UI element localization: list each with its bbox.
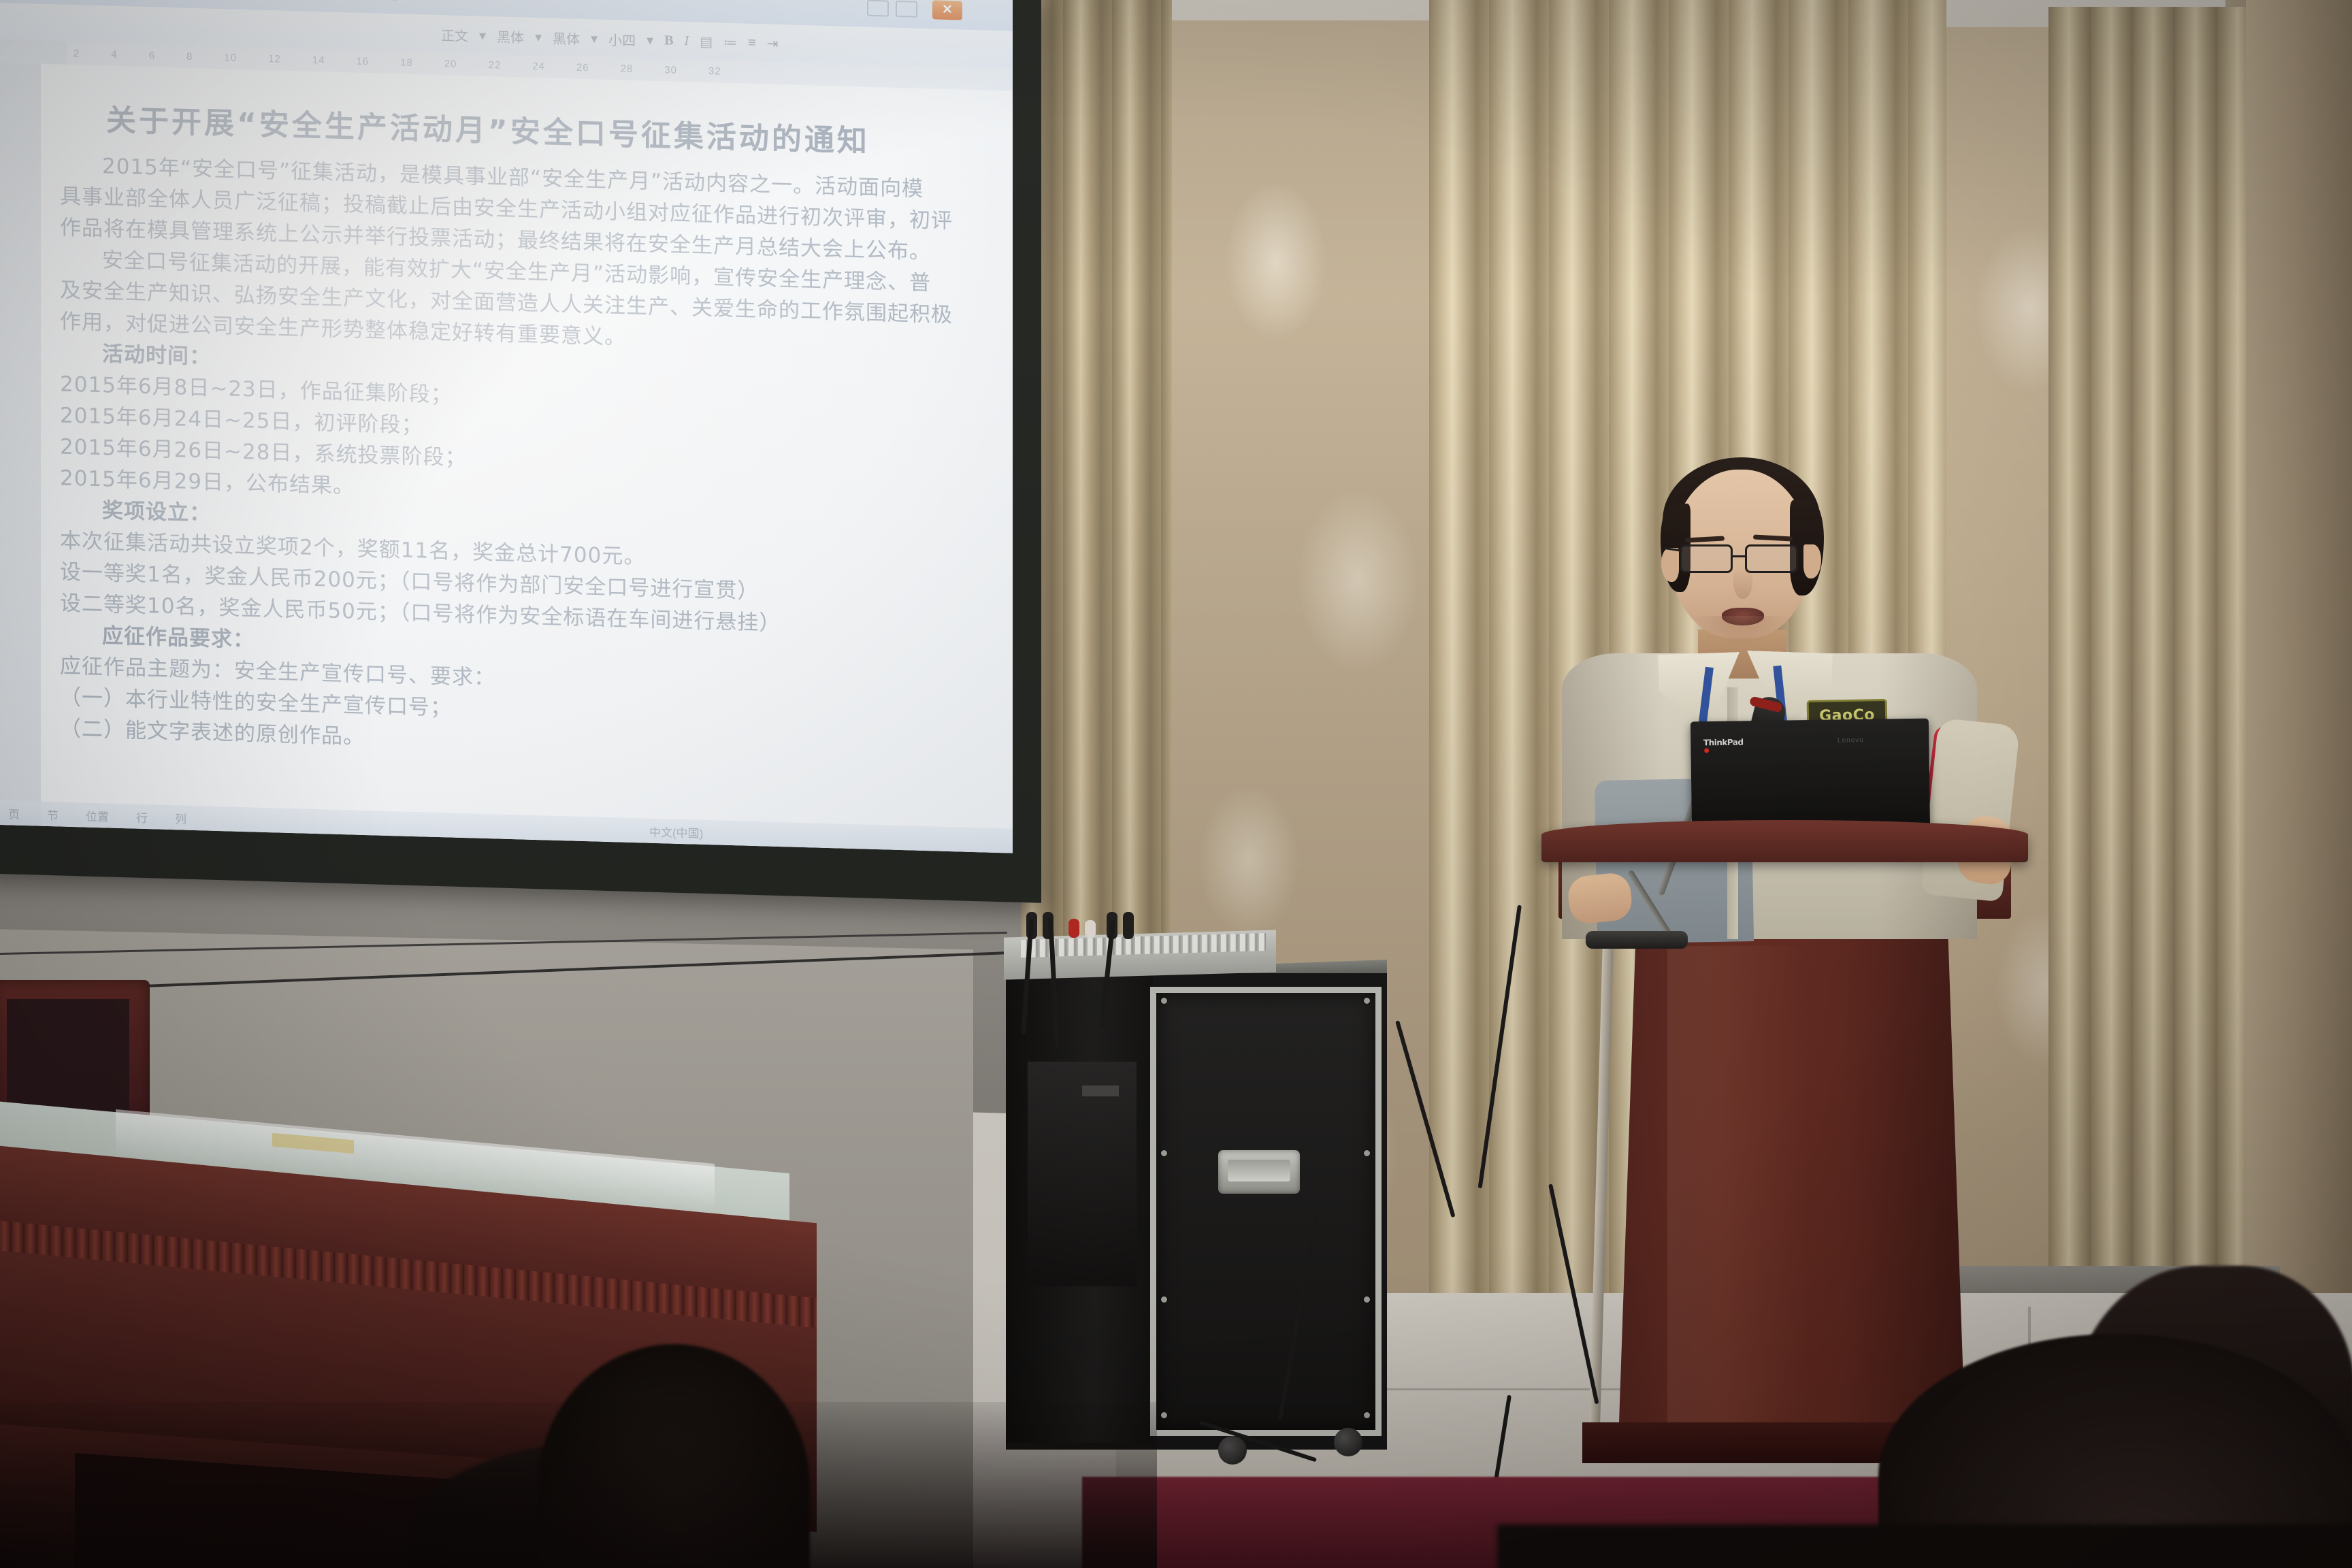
road-case-front-panel: [1150, 987, 1382, 1436]
case-screw: [1364, 1412, 1370, 1418]
cable-jack-white[interactable]: [1085, 920, 1096, 938]
chair-cushion: [7, 999, 129, 1116]
ruler-tick: 10: [224, 52, 237, 64]
align-center-icon[interactable]: ▤: [700, 33, 713, 50]
case-screw: [1364, 998, 1370, 1004]
ruler-tick: 28: [621, 63, 634, 75]
maximize-icon[interactable]: [896, 1, 917, 18]
case-screw: [1161, 1150, 1167, 1156]
eyeglass-lens-left: [1680, 544, 1733, 573]
ruler-tick: 14: [312, 54, 325, 66]
road-case-handle-grip[interactable]: [1228, 1160, 1290, 1181]
eyeglass-lens-right: [1745, 544, 1798, 573]
microphone-base: [1586, 931, 1688, 949]
style-dropdown-value[interactable]: 正文: [441, 24, 468, 45]
font-name-value[interactable]: 黑体: [497, 26, 524, 46]
cable-jack[interactable]: [1123, 912, 1134, 939]
podium-top-surface: [1541, 820, 2028, 862]
rack-equipment-label: [1082, 1085, 1119, 1096]
ruler-tick: 32: [708, 65, 721, 78]
zoom-level-value[interactable]: 100%: [309, 0, 347, 1]
close-icon[interactable]: ✕: [932, 0, 962, 20]
projection-screen-frame: 100% ✕ 正文 ▾ 黑体 ▾ 黑体 ▾ 小四: [0, 0, 1041, 903]
font-name-alt-value[interactable]: 黑体: [553, 27, 580, 48]
conference-room-photo: 100% ✕ 正文 ▾ 黑体 ▾ 黑体 ▾ 小四: [0, 0, 2352, 1568]
case-screw: [1161, 1412, 1167, 1418]
cable-jack-red[interactable]: [1068, 919, 1079, 938]
eyeglass-bridge: [1733, 555, 1745, 557]
ruler-tick: 12: [268, 53, 281, 65]
help-icon[interactable]: [388, 0, 402, 1]
indent-icon[interactable]: ⇥: [767, 35, 779, 52]
chevron-down-icon[interactable]: ▾: [591, 30, 598, 47]
road-case-caster: [1334, 1428, 1362, 1456]
ruler-tick: 6: [149, 50, 155, 61]
ruler-tick: 16: [356, 55, 369, 67]
chevron-down-icon[interactable]: ▾: [479, 27, 486, 44]
document-body[interactable]: 关于开展“安全生产活动月”安全口号征集活动的通知 2015年“安全口号”征集活动…: [60, 95, 972, 771]
status-line-label: 行: [136, 808, 148, 825]
ruler-tick: 4: [111, 48, 117, 60]
bulleted-list-icon[interactable]: ≡: [748, 35, 756, 50]
case-screw: [1161, 1296, 1167, 1303]
ruler-tick: 30: [664, 64, 677, 76]
curtain-right: [2048, 7, 2246, 1300]
ruler-tick: 20: [444, 58, 457, 70]
chevron-down-icon[interactable]: ▾: [535, 29, 542, 46]
status-section-label: 节: [47, 805, 59, 822]
foreground-shadow: [0, 1402, 1157, 1568]
ruler-tick: 8: [186, 50, 193, 62]
ear-left: [1661, 548, 1679, 582]
ruler-tick: 22: [489, 59, 502, 71]
ruler-tick: 2: [73, 48, 80, 59]
audience-shoulders: [1497, 1524, 2352, 1568]
status-language-label: 中文(中国): [649, 822, 703, 840]
document-left-gutter: [0, 63, 41, 826]
status-position-label: 位置: [86, 806, 109, 824]
case-screw: [1364, 1150, 1370, 1156]
ruler-tick: 26: [576, 61, 589, 73]
word-application-window[interactable]: 100% ✕ 正文 ▾ 黑体 ▾ 黑体 ▾ 小四: [0, 0, 1013, 853]
chevron-down-icon[interactable]: ▾: [647, 31, 653, 48]
numbered-list-icon[interactable]: ≔: [723, 33, 737, 51]
ruler-tick: 24: [532, 60, 545, 72]
minimize-icon[interactable]: [867, 0, 889, 17]
chin-shadow: [1693, 616, 1788, 647]
podium-column-highlight: [1667, 946, 1810, 1422]
nose: [1733, 566, 1752, 599]
mixer-input-jacks[interactable]: [1019, 912, 1142, 941]
ruler-tick: 18: [400, 56, 413, 69]
bold-button[interactable]: B: [664, 33, 673, 48]
thinkpad-logo: ThinkPad: [1703, 738, 1742, 749]
status-page-label: 页: [8, 804, 20, 821]
window-controls[interactable]: [867, 0, 926, 19]
font-size-value[interactable]: 小四: [608, 29, 636, 50]
case-screw: [1364, 1296, 1370, 1303]
projection-screen-surface: 100% ✕ 正文 ▾ 黑体 ▾ 黑体 ▾ 小四: [0, 0, 1013, 853]
thinkpad-wordmark: ThinkPad: [1703, 738, 1744, 748]
road-case-caster: [1218, 1436, 1247, 1465]
italic-button[interactable]: I: [685, 33, 689, 49]
status-column-label: 列: [175, 809, 186, 826]
case-screw: [1161, 998, 1167, 1004]
thinkpad-red-dot-icon: [1704, 748, 1709, 753]
lenovo-wordmark: Lenovo: [1837, 736, 1912, 745]
